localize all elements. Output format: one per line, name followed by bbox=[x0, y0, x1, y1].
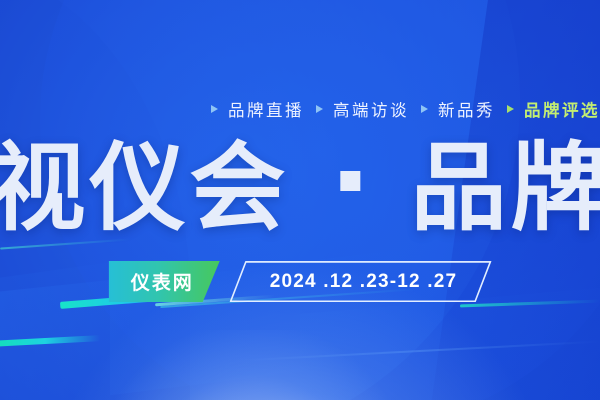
nav-item-label: 新品秀 bbox=[438, 97, 495, 121]
nav-item-label: 品牌评选 bbox=[524, 97, 600, 121]
promo-banner: 品牌直播 高端访谈 新品秀 品牌评选 视仪会 品牌 仪表网 2024 .12 .… bbox=[0, 0, 600, 400]
triangle-right-icon bbox=[316, 105, 323, 113]
background-bottom-glow-core bbox=[102, 330, 402, 400]
triangle-right-icon bbox=[211, 105, 218, 113]
nav-item-live[interactable]: 品牌直播 bbox=[211, 97, 304, 121]
background-facet-right bbox=[300, 286, 600, 400]
nav-item-label: 品牌直播 bbox=[228, 97, 304, 121]
accent-streak-seven bbox=[240, 341, 600, 362]
nav-item-new-product-show[interactable]: 新品秀 bbox=[409, 97, 495, 121]
nav-item-brand-awards[interactable]: 品牌评选 bbox=[495, 97, 600, 121]
title-segment-left: 视仪会 bbox=[0, 135, 289, 243]
brand-tag: 仪表网 bbox=[109, 261, 220, 302]
nav-row: 品牌直播 高端访谈 新品秀 品牌评选 bbox=[0, 97, 600, 121]
nav-item-interview[interactable]: 高端访谈 bbox=[304, 97, 409, 121]
page-title: 视仪会 品牌 bbox=[0, 128, 600, 243]
nav-item-label: 高端访谈 bbox=[333, 97, 409, 121]
brand-tag-label: 仪表网 bbox=[131, 268, 194, 295]
badge-row: 仪表网 2024 .12 .23-12 .27 bbox=[109, 261, 492, 302]
accent-streak-two bbox=[0, 335, 100, 347]
triangle-right-icon bbox=[421, 105, 428, 113]
date-range-tag: 2024 .12 .23-12 .27 bbox=[230, 261, 492, 302]
triangle-right-icon bbox=[507, 105, 514, 113]
title-separator-dot bbox=[340, 171, 360, 191]
title-segment-right: 品牌 bbox=[411, 135, 600, 243]
date-range-label: 2024 .12 .23-12 .27 bbox=[270, 271, 458, 293]
